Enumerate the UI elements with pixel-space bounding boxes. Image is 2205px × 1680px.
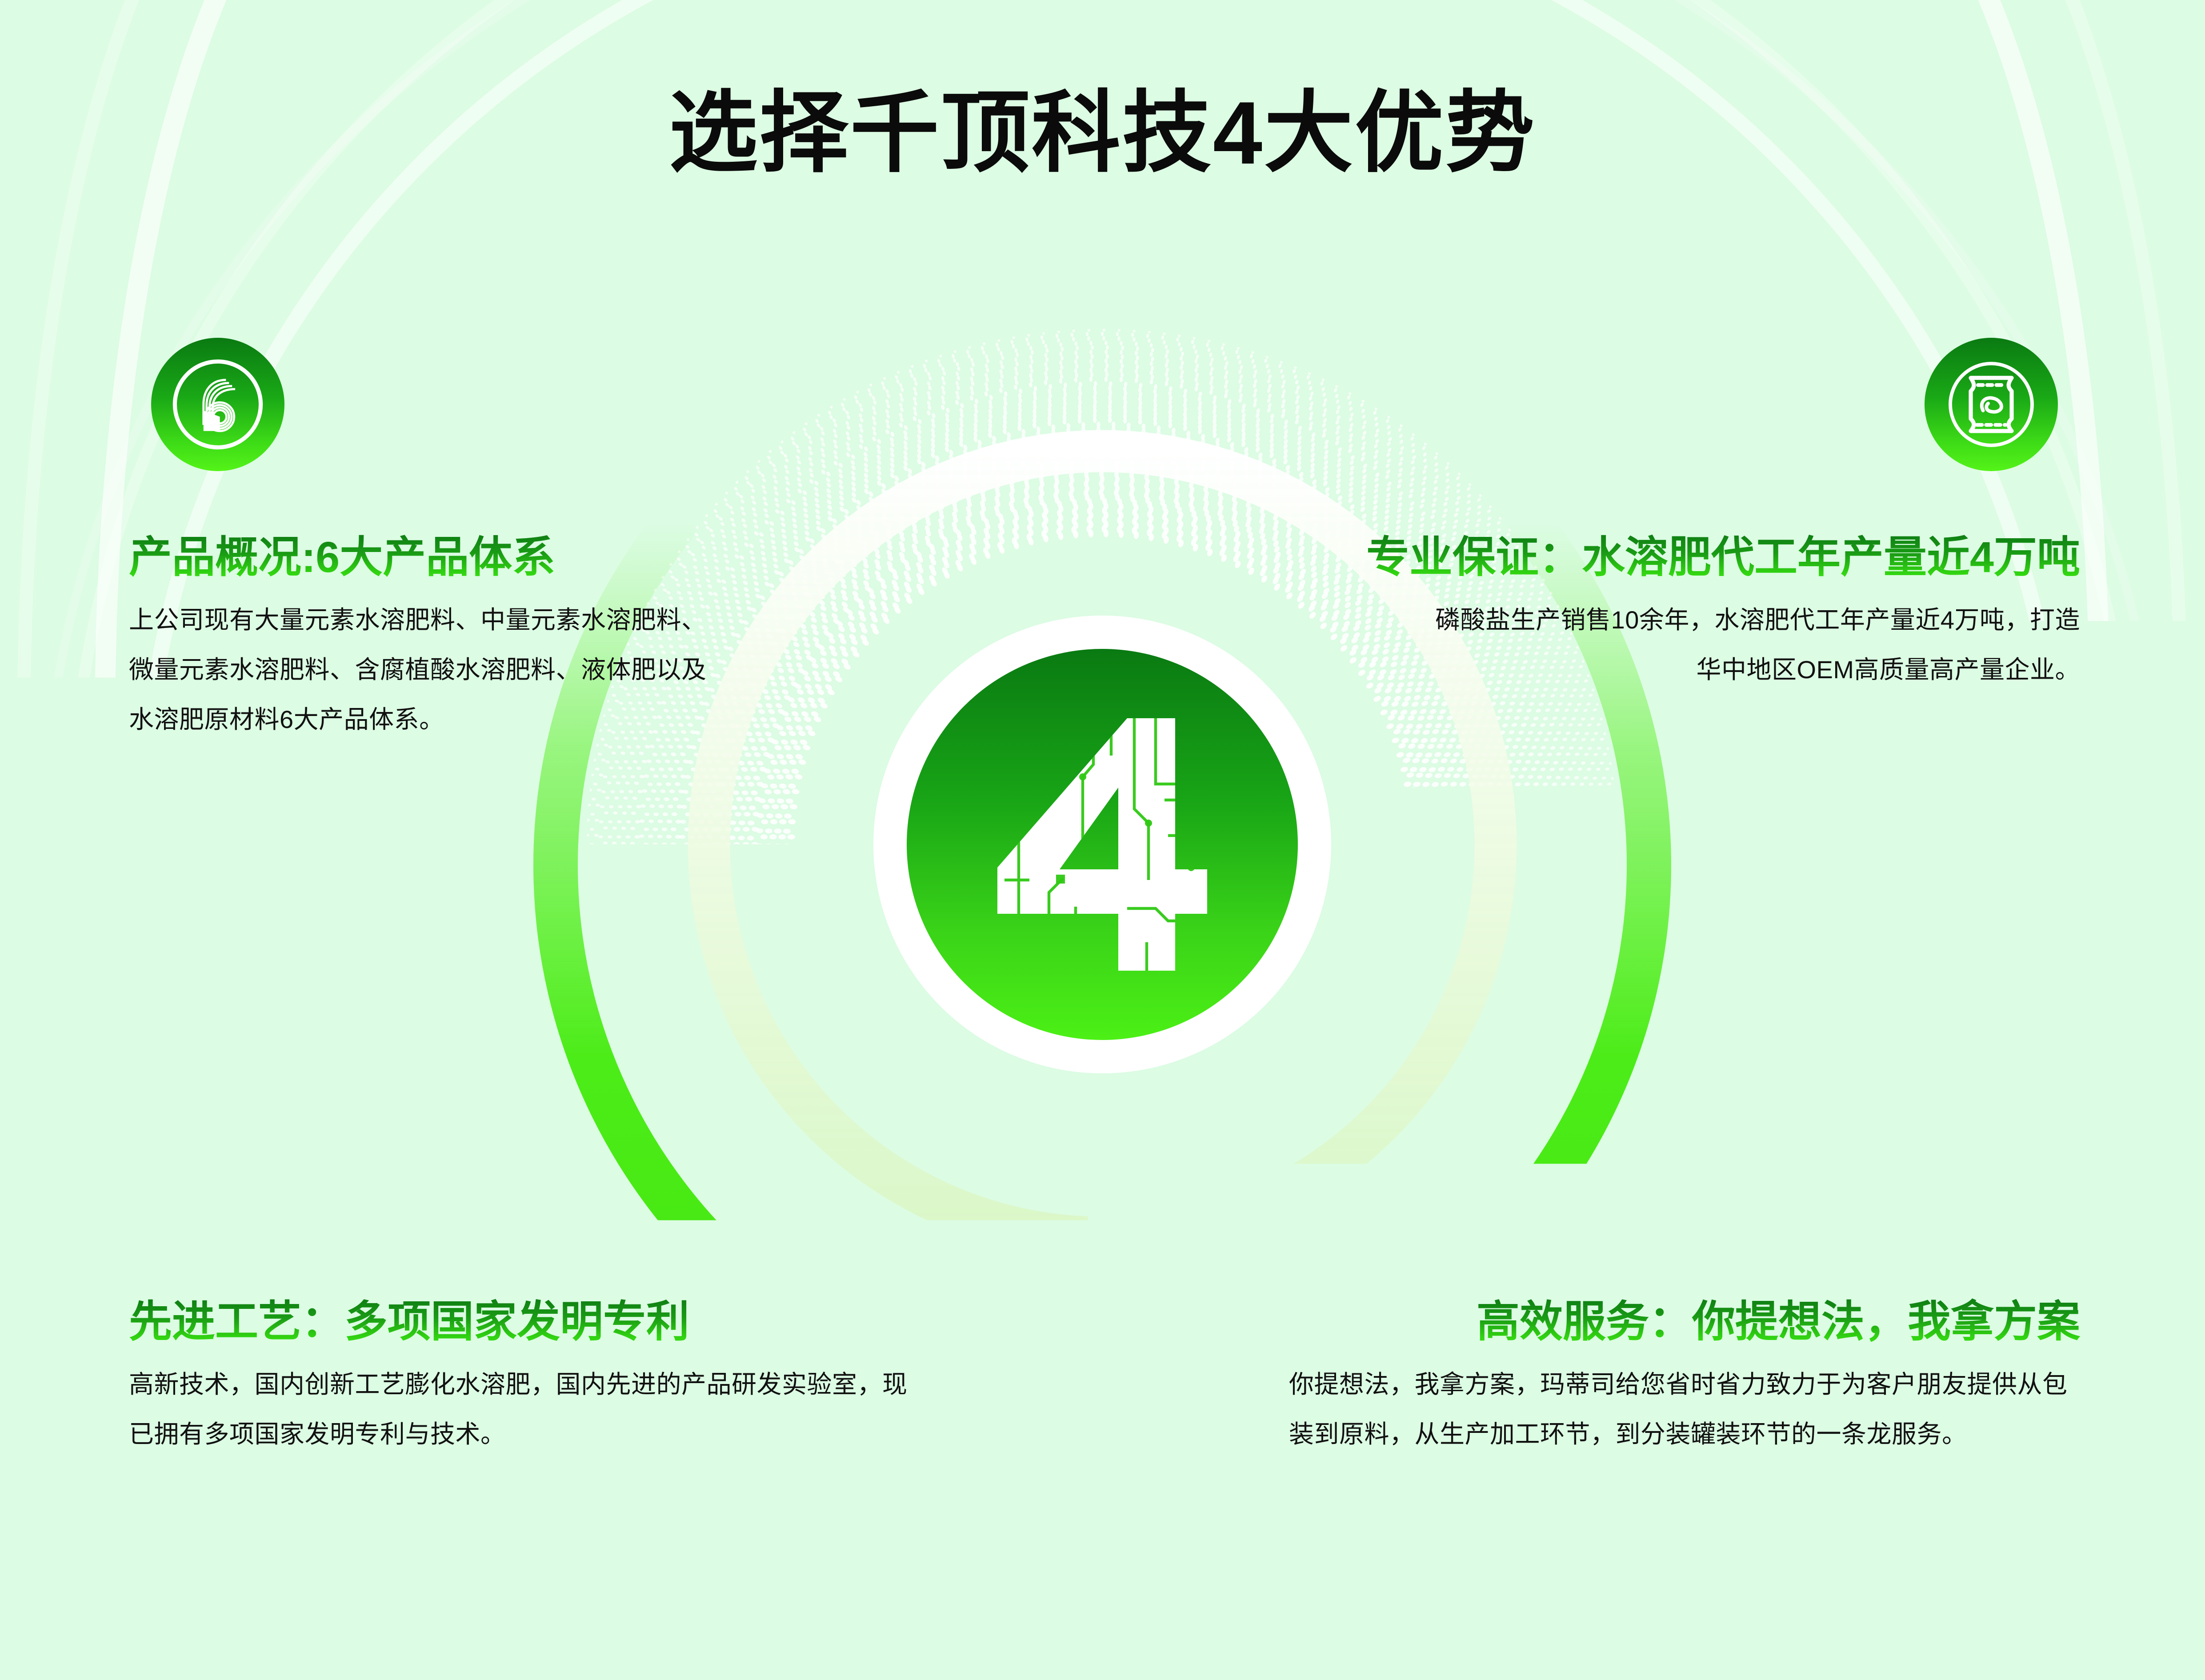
feature-heading: 产品概况:6大产品体系 bbox=[129, 533, 716, 582]
feature-heading: 先进工艺：多项国家发明专利 bbox=[129, 1298, 911, 1346]
feature-body: 你提想法，我拿方案，玛蒂司给您省时省力致力于为客户朋友提供从包装到原料，从生产加… bbox=[1289, 1360, 2080, 1459]
center-core-circle bbox=[907, 649, 1298, 1040]
feature-text-top-right: 专业保证：水溶肥代工年产量近4万吨 磷酸盐生产销售10余年，水溶肥代工年产量近4… bbox=[1200, 533, 2080, 695]
feature-body: 高新技术，国内创新工艺膨化水溶肥，国内先进的产品研发实验室，现已拥有多项国家发明… bbox=[129, 1360, 911, 1459]
feature-text-bottom-right: 高效服务：你提想法，我拿方案 你提想法，我拿方案，玛蒂司给您省时省力致力于为客户… bbox=[1289, 1298, 2080, 1459]
feature-heading: 高效服务：你提想法，我拿方案 bbox=[1289, 1298, 2080, 1346]
number-six-badge-icon bbox=[151, 338, 284, 471]
feature-heading: 专业保证：水溶肥代工年产量近4万吨 bbox=[1200, 533, 2080, 582]
feature-text-top-left: 产品概况:6大产品体系 上公司现有大量元素水溶肥料、中量元素水溶肥料、微量元素水… bbox=[129, 533, 716, 744]
atom-icon bbox=[151, 1107, 284, 1240]
fertilizer-bag-icon bbox=[1925, 338, 2058, 471]
circuit-number-four-icon bbox=[978, 702, 1227, 987]
meeting-team-icon bbox=[1925, 1107, 2058, 1240]
poster-canvas: 选择千顶科技4大优势 bbox=[0, 0, 2205, 1680]
feature-body: 磷酸盐生产销售10余年，水溶肥代工年产量近4万吨，打造华中地区OEM高质量高产量… bbox=[1427, 595, 2080, 695]
feature-text-bottom-left: 先进工艺：多项国家发明专利 高新技术，国内创新工艺膨化水溶肥，国内先进的产品研发… bbox=[129, 1298, 911, 1459]
page-title: 选择千顶科技4大优势 bbox=[0, 87, 2205, 180]
feature-body: 上公司现有大量元素水溶肥料、中量元素水溶肥料、微量元素水溶肥料、含腐植酸水溶肥料… bbox=[129, 595, 716, 744]
